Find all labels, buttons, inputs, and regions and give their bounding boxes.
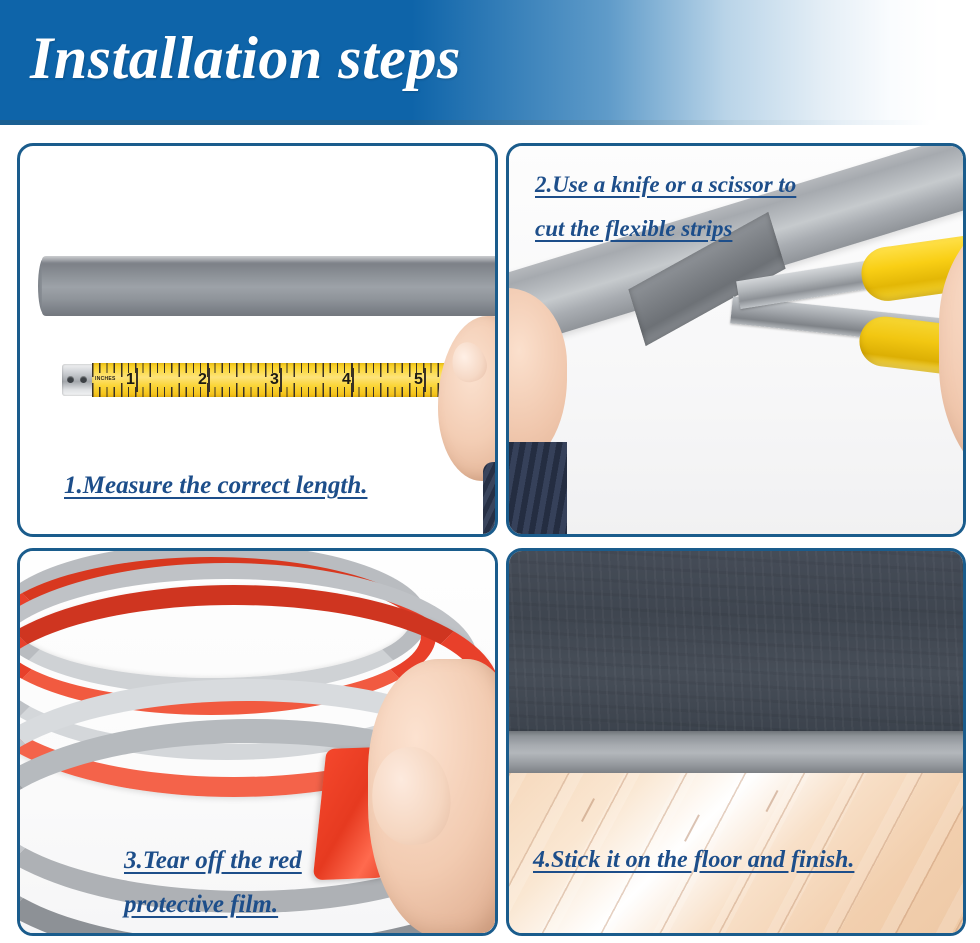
floor-plank-seam bbox=[581, 798, 595, 822]
tape-measure: INCHES 1 2 3 4 5 bbox=[62, 363, 454, 397]
step-2-caption-line-1: 2.Use a knife or a scissor to bbox=[535, 168, 796, 201]
tape-major-line bbox=[352, 368, 354, 392]
tape-number: 3 bbox=[270, 372, 279, 388]
step-panel-4: 4.Stick it on the floor and finish. bbox=[506, 548, 966, 936]
tape-number: 2 bbox=[198, 372, 207, 388]
header-underline bbox=[0, 120, 980, 125]
step-panel-1: INCHES 1 2 3 4 5 1.Measure the correct l… bbox=[17, 143, 498, 537]
gray-flexible-strip bbox=[42, 256, 498, 316]
tape-number: 4 bbox=[342, 372, 351, 388]
dark-wall bbox=[509, 551, 963, 731]
step-2-caption-line-2: cut the flexible strips bbox=[535, 212, 732, 245]
tape-major-line bbox=[208, 368, 210, 392]
hand-holding-tape bbox=[438, 316, 498, 481]
step-panel-2: 2.Use a knife or a scissor to cut the fl… bbox=[506, 143, 966, 537]
tape-hook-icon bbox=[62, 364, 96, 396]
floor-plank-seam bbox=[765, 790, 778, 812]
step-panel-3: 3.Tear off the red protective film. bbox=[17, 548, 498, 936]
step-1-caption: 1.Measure the correct length. bbox=[64, 468, 367, 504]
tape-number: 5 bbox=[414, 372, 423, 388]
step-3-caption-line-2: protective film. bbox=[124, 887, 278, 923]
tape-number: 1 bbox=[126, 372, 135, 388]
step-4-caption: 4.Stick it on the floor and finish. bbox=[533, 843, 854, 878]
page-title: Installation steps bbox=[30, 24, 461, 93]
step-3-caption-line-1: 3.Tear off the red bbox=[124, 843, 302, 879]
tape-blade: INCHES 1 2 3 4 5 bbox=[92, 363, 454, 397]
tape-unit-label: INCHES bbox=[95, 376, 116, 382]
installed-gray-strip bbox=[509, 731, 963, 773]
floor-plank-seam bbox=[684, 814, 700, 841]
sleeve-cuff bbox=[483, 462, 498, 537]
tape-major-line bbox=[280, 368, 282, 392]
tape-major-line bbox=[136, 368, 138, 392]
tape-major-line bbox=[424, 368, 426, 392]
sleeve-cuff bbox=[506, 442, 567, 537]
step-2-illustration bbox=[509, 146, 963, 534]
